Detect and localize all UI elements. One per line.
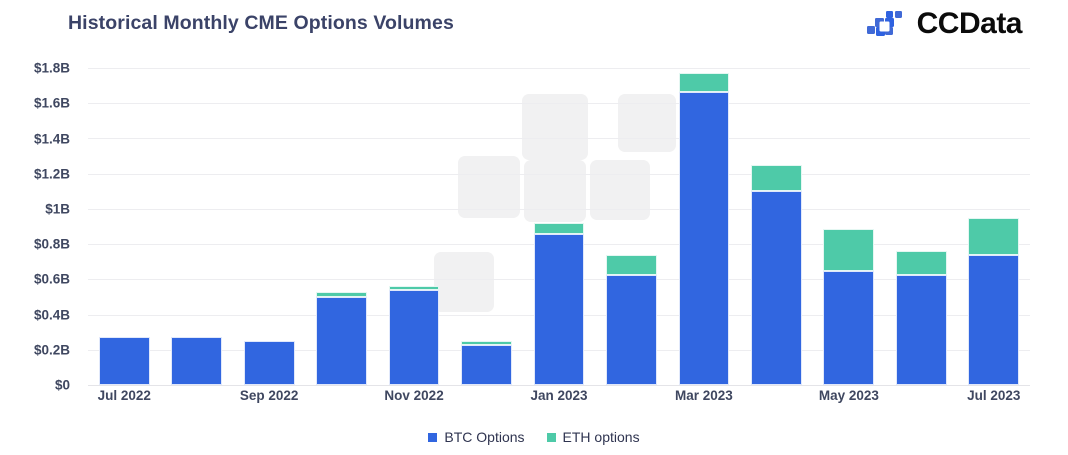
bar-column[interactable] [751,68,802,385]
bar-segment[interactable] [896,251,947,275]
bar-segment[interactable] [823,271,874,385]
bar-segment[interactable] [389,290,440,385]
bar-column[interactable] [823,68,874,385]
bar-segment[interactable] [679,92,730,385]
x-tick-label: Jul 2022 [98,388,151,403]
bar-segment[interactable] [244,341,295,385]
y-tick-label: $1.8B [34,61,70,76]
bar-segment[interactable] [99,337,150,385]
bar-segment[interactable] [171,337,222,385]
bar-column[interactable] [534,68,585,385]
bar-segment[interactable] [679,73,730,91]
bar-column[interactable] [99,68,150,385]
y-tick-label: $0.8B [34,237,70,252]
y-axis: Volume $0 $0.2B $0.4B $0.6B $0.8B $1B $1… [0,0,78,455]
bar-column[interactable] [606,68,657,385]
bar-column[interactable] [316,68,367,385]
gridline [88,385,1030,386]
legend-label: BTC Options [444,429,524,445]
y-tick-label: $0 [55,378,70,393]
bar-column[interactable] [968,68,1019,385]
y-tick-label: $1.4B [34,131,70,146]
y-tick-label: $1B [45,202,70,217]
y-tick-label: $0.2B [34,342,70,357]
x-tick-label: May 2023 [819,388,879,403]
y-tick-label: $0.6B [34,272,70,287]
y-tick-label: $1.6B [34,96,70,111]
legend-item[interactable]: ETH options [547,429,640,445]
bar-segment[interactable] [534,223,585,234]
y-tick-label: $0.4B [34,307,70,322]
legend-label: ETH options [563,429,640,445]
bar-column[interactable] [171,68,222,385]
bar-column[interactable] [679,68,730,385]
bar-column[interactable] [244,68,295,385]
bar-column[interactable] [389,68,440,385]
bar-column[interactable] [896,68,947,385]
bar-segment[interactable] [389,286,440,290]
bar-segment[interactable] [316,292,367,297]
chart-screenshot: Historical Monthly CME Options Volumes C… [0,0,1068,455]
bar-segment[interactable] [751,165,802,191]
bar-segment[interactable] [606,275,657,385]
bar-segment[interactable] [823,229,874,271]
bar-segment[interactable] [461,341,512,345]
x-tick-label: Nov 2022 [384,388,443,403]
square-swatch-icon [428,433,437,442]
bar-segment[interactable] [606,255,657,275]
x-tick-label: Jul 2023 [967,388,1020,403]
square-swatch-icon [547,433,556,442]
bar-segment[interactable] [461,345,512,385]
x-tick-label: Sep 2022 [240,388,299,403]
bar-segment[interactable] [968,255,1019,385]
bar-segment[interactable] [534,234,585,385]
y-axis-title: Volume [0,183,3,226]
bar-segment[interactable] [968,218,1019,255]
bar-segment[interactable] [316,297,367,385]
y-tick-label: $1.2B [34,166,70,181]
bar-segment[interactable] [751,191,802,385]
chart-plot: Volume $0 $0.2B $0.4B $0.6B $0.8B $1B $1… [0,0,1068,455]
chart-legend: BTC OptionsETH options [0,429,1068,445]
bar-series-container [88,68,1030,385]
legend-item[interactable]: BTC Options [428,429,524,445]
x-tick-label: Jan 2023 [530,388,587,403]
x-tick-label: Mar 2023 [675,388,733,403]
bar-column[interactable] [461,68,512,385]
bar-segment[interactable] [896,275,947,385]
x-axis: Jul 2022Sep 2022Nov 2022Jan 2023Mar 2023… [88,388,1030,410]
